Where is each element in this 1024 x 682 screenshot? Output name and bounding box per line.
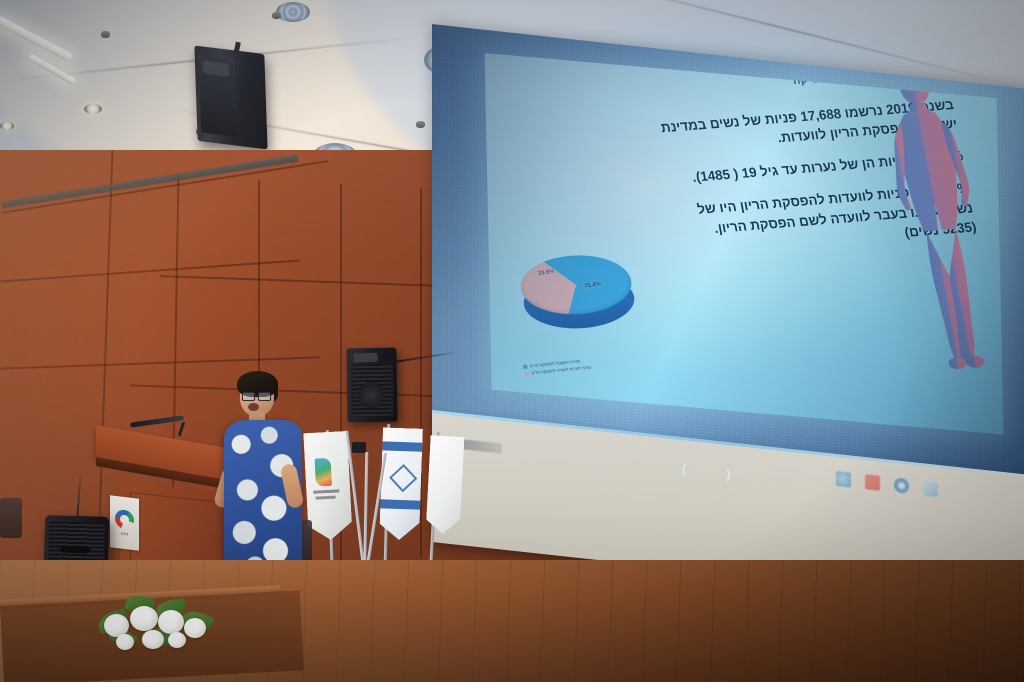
ceiling-sprinkler	[416, 121, 425, 128]
flag-lettering	[313, 489, 339, 493]
ceiling-air-vent	[276, 2, 310, 22]
flag-stripe	[382, 441, 422, 451]
tripod-clamp	[352, 442, 366, 453]
conference-hall-photo: הלשכה המרכזית לסטטיסטיקה בשנת 2019 נרשמו…	[0, 0, 1024, 682]
stage-chair	[0, 498, 22, 538]
misc-app-icon[interactable]	[923, 480, 938, 497]
white-chrysanthemum	[168, 632, 186, 648]
flower-arrangement	[96, 578, 226, 660]
flag-cloth	[379, 427, 423, 540]
flag-emblem-icon	[315, 458, 332, 487]
internet-explorer-icon[interactable]	[894, 477, 909, 494]
recessed-downlight	[0, 122, 14, 130]
white-chrysanthemum	[158, 610, 184, 634]
plain-white-flag	[425, 435, 464, 535]
white-chrysanthemum	[116, 634, 134, 650]
presenter-mouth	[248, 403, 259, 411]
ceiling-speaker	[194, 45, 267, 149]
podium-logo-plaque: מכון	[110, 495, 139, 551]
institution-crest-icon	[115, 509, 134, 530]
white-chrysanthemum	[184, 618, 206, 638]
recessed-downlight	[84, 104, 102, 114]
podium-logo-caption: מכון	[121, 531, 129, 537]
ceiling-sprinkler	[101, 31, 110, 38]
glasses-lens-left	[242, 392, 255, 401]
projection-screen-assembly: הלשכה המרכזית לסטטיסטיקה בשנת 2019 נרשמו…	[432, 24, 1024, 544]
wall-pa-speaker	[346, 348, 397, 423]
flag-lettering	[316, 496, 336, 500]
flag-stripe	[380, 499, 420, 509]
speaker-tweeter	[353, 353, 377, 362]
presenter-glasses-icon	[242, 392, 271, 399]
white-chrysanthemum	[142, 630, 164, 649]
office-icon[interactable]	[865, 474, 880, 491]
screen-control-indicator[interactable]: ( )	[682, 461, 748, 483]
subwoofer-handle	[60, 546, 90, 554]
ceiling-sprinkler	[272, 12, 281, 19]
glasses-lens-right	[258, 392, 271, 401]
flag-cloth	[425, 435, 464, 535]
white-chrysanthemum	[130, 606, 158, 631]
israel-flag	[379, 427, 423, 540]
star-of-david-icon	[389, 464, 417, 492]
file-explorer-icon[interactable]	[836, 471, 851, 488]
